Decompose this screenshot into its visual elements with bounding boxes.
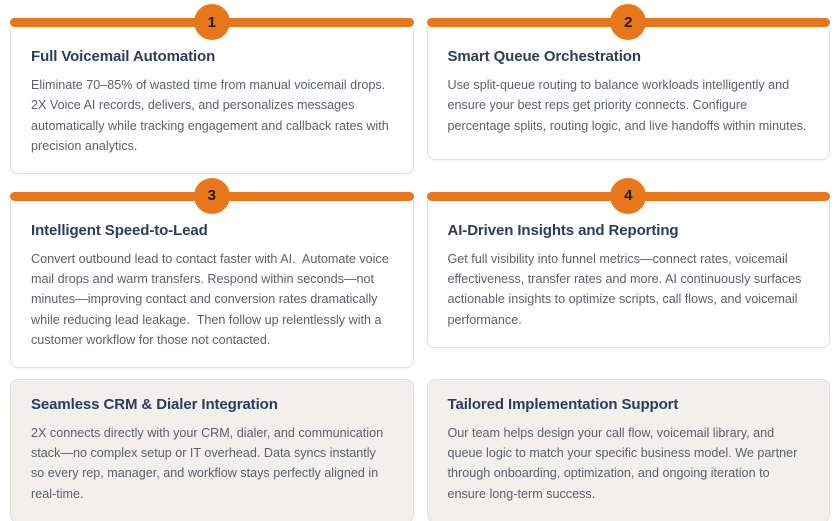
card-body-text: Get full visibility into funnel metrics—… [448,249,810,331]
card-title: Tailored Implementation Support [448,396,810,414]
card-number-badge: 4 [610,178,646,214]
card-content: Smart Queue Orchestration Use split-queu… [427,26,831,160]
numbered-cards-grid: 1 Full Voicemail Automation Eliminate 70… [0,0,840,368]
card-body-text: Eliminate 70–85% of wasted time from man… [31,75,393,157]
feature-card-2: 2 Smart Queue Orchestration Use split-qu… [427,0,831,174]
card-body-text: Our team helps design your call flow, vo… [448,423,810,505]
card-title: Seamless CRM & Dialer Integration [31,396,393,414]
feature-card-3: 3 Intelligent Speed-to-Lead Convert outb… [10,174,414,368]
card-title: Intelligent Speed-to-Lead [31,222,393,240]
card-content: Tailored Implementation Support Our team… [427,379,831,521]
card-content: Intelligent Speed-to-Lead Convert outbou… [10,200,414,368]
card-body-text: Use split-queue routing to balance workl… [448,75,810,136]
feature-cards-page: 1 Full Voicemail Automation Eliminate 70… [0,0,840,521]
card-number-badge: 3 [194,178,230,214]
support-card-1: Seamless CRM & Dialer Integration 2X con… [10,368,414,521]
card-number-badge: 1 [194,4,230,40]
card-title: Full Voicemail Automation [31,48,393,66]
card-title: Smart Queue Orchestration [448,48,810,66]
card-content: AI-Driven Insights and Reporting Get ful… [427,200,831,348]
card-content: Full Voicemail Automation Eliminate 70–8… [10,26,414,174]
card-body-text: 2X connects directly with your CRM, dial… [31,423,393,505]
card-title: AI-Driven Insights and Reporting [448,222,810,240]
feature-card-1: 1 Full Voicemail Automation Eliminate 70… [10,0,414,174]
card-number-badge: 2 [610,4,646,40]
card-body-text: Convert outbound lead to contact faster … [31,249,393,351]
plain-cards-grid: Seamless CRM & Dialer Integration 2X con… [0,368,840,521]
card-content: Seamless CRM & Dialer Integration 2X con… [10,379,414,521]
feature-card-4: 4 AI-Driven Insights and Reporting Get f… [427,174,831,368]
support-card-2: Tailored Implementation Support Our team… [427,368,831,521]
